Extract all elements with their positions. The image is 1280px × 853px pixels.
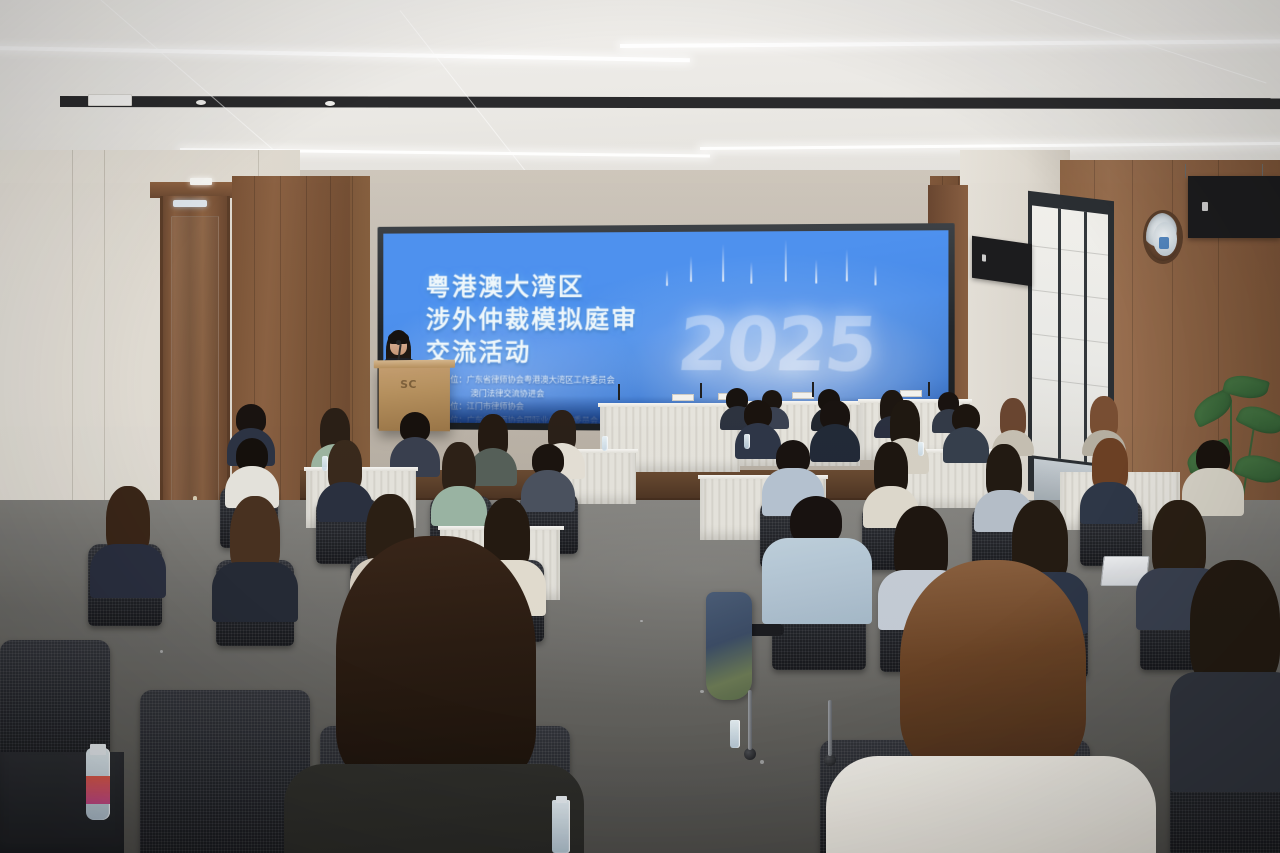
ceiling-light-strip: [620, 39, 1280, 48]
water-bottle[interactable]: [730, 720, 740, 748]
chair-post: [748, 690, 752, 750]
bottle-cap: [556, 796, 567, 803]
screen-title-line-2: 涉外仲裁模拟庭审: [426, 303, 638, 336]
ceiling-light-strip: [0, 46, 690, 62]
name-plate: [792, 392, 814, 399]
screen-year-watermark: 2025: [674, 308, 878, 383]
name-plate: [900, 390, 922, 397]
exit-light-icon: [190, 178, 212, 185]
name-plate: [672, 394, 694, 401]
ceiling-recess-channel: [60, 96, 1280, 109]
desk-microphone: [812, 382, 814, 397]
bottle-label: [86, 776, 110, 804]
podium-logo: SC: [400, 378, 417, 391]
chair-post: [828, 700, 832, 756]
smoke-detector-icon: [196, 100, 206, 105]
water-bottle[interactable]: [552, 800, 570, 853]
podium-microphone: [396, 340, 401, 345]
screen-content: 2025 粤港澳大湾区 涉外仲裁模拟庭审 交流活动 主办单位：广东省律师协会粤港…: [383, 230, 948, 425]
ceiling-light-strip: [700, 142, 1280, 150]
bottle-cap: [90, 744, 106, 755]
door-indicator-light: [173, 200, 207, 207]
smoke-detector-icon: [325, 101, 335, 106]
wall-speaker-right: [1188, 176, 1280, 238]
presentation-screen: 2025 粤港澳大湾区 涉外仲裁模拟庭审 交流活动 主办单位：广东省律师协会粤港…: [383, 230, 948, 425]
conference-photo-scene: 2025 粤港澳大湾区 涉外仲裁模拟庭审 交流活动 主办单位：广东省律师协会粤港…: [0, 0, 1280, 853]
water-bottle[interactable]: [322, 456, 328, 471]
water-bottle[interactable]: [744, 434, 750, 449]
speaker-hanger: [1185, 164, 1186, 178]
wall-speaker-mid: [972, 236, 1032, 286]
screen-title-line-1: 粤港澳大湾区: [426, 270, 638, 303]
head-table-edge: [598, 403, 742, 407]
draped-jacket: [706, 592, 752, 700]
podium-top-surface: [374, 360, 455, 369]
water-bottle[interactable]: [602, 436, 608, 451]
desk-microphone: [618, 384, 620, 400]
ceiling-vent: [88, 94, 132, 106]
screen-subtitle-line-1: 主办单位：广东省律师协会粤港澳大湾区工作委员会: [426, 373, 648, 387]
screen-title-line-3: 交流活动: [426, 336, 638, 369]
desk-microphone: [700, 383, 702, 398]
desk-microphone: [928, 382, 930, 396]
wall-clock: [1143, 210, 1183, 264]
water-bottle[interactable]: [918, 442, 924, 456]
screen-title: 粤港澳大湾区 涉外仲裁模拟庭审 交流活动: [426, 270, 638, 369]
